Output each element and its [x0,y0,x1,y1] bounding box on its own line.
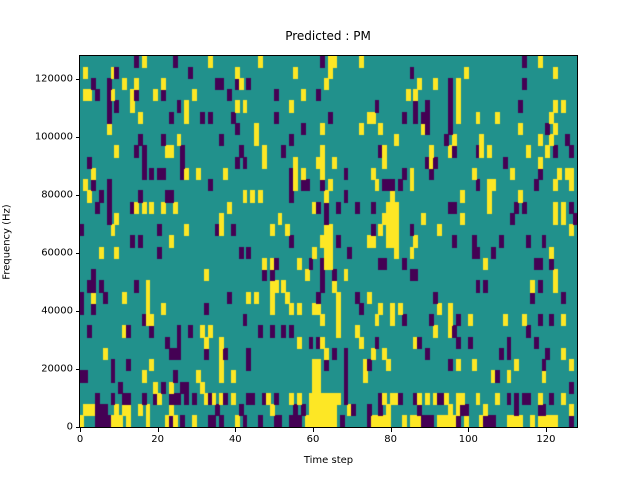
x-tick-label: 120 [536,434,555,445]
y-tick-mark [76,195,80,196]
y-tick-mark [76,369,80,370]
x-axis-label: Time step [79,455,578,466]
x-tick-label: 80 [384,434,397,445]
y-tick-mark [76,79,80,80]
x-tick-label: 100 [459,434,478,445]
y-tick-mark [76,427,80,428]
figure-canvas: Predicted : PM 0200004000060000800001000… [0,0,640,480]
y-axis-label-wrapper: Frequency (Hz) [0,55,14,428]
x-tick-mark [391,428,392,432]
x-tick-mark [313,428,314,432]
y-axis-label: Frequency (Hz) [2,204,13,279]
heatmap-plot-area[interactable] [79,55,578,428]
x-tick-label: 60 [307,434,320,445]
x-tick-label: 20 [151,434,164,445]
x-tick-mark [80,428,81,432]
x-tick-mark [235,428,236,432]
x-tick-mark [158,428,159,432]
x-tick-mark [546,428,547,432]
y-tick-mark [76,137,80,138]
y-tick-mark [76,253,80,254]
y-tick-mark [76,311,80,312]
x-tick-mark [468,428,469,432]
heatmap-image [80,56,577,427]
x-tick-label: 0 [77,434,83,445]
x-tick-label: 40 [229,434,242,445]
chart-title: Predicted : PM [78,29,578,43]
